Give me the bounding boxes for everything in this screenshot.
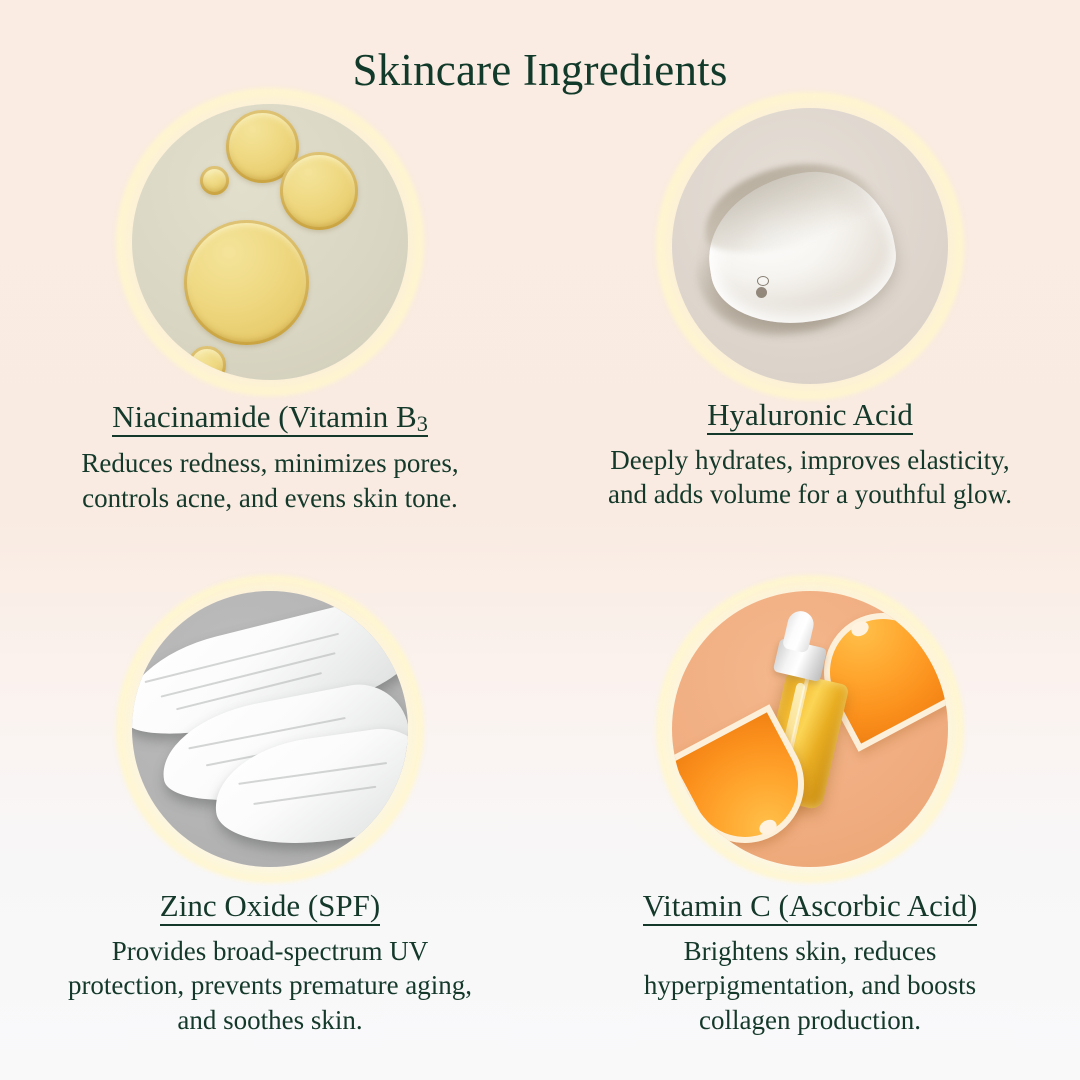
serum-dropper-bottle-with-orange-slices-photo xyxy=(672,591,948,867)
cream-streak xyxy=(238,762,387,785)
page-title: Skincare Ingredients xyxy=(0,0,1080,93)
ingredient-description-niacinamide: Reduces redness, minimizes pores, contro… xyxy=(55,446,485,515)
ingredient-image-zinc-oxide xyxy=(132,591,408,867)
ingredient-card-vitamin-c: Vitamin C (Ascorbic Acid) Brightens skin… xyxy=(540,515,1080,1037)
ingredient-description-vitamin-c: Brightens skin, reduces hyperpigmentatio… xyxy=(595,934,1025,1038)
orange-core xyxy=(757,817,779,838)
oil-droplet xyxy=(200,166,229,195)
ingredient-heading-zinc-oxide: Zinc Oxide (SPF) xyxy=(160,889,380,924)
ingredient-card-niacinamide: Niacinamide (Vitamin B3 Reduces redness,… xyxy=(0,104,540,515)
oil-droplet xyxy=(184,220,309,345)
gel-dot xyxy=(756,287,767,298)
gel-bubble xyxy=(757,276,769,286)
clear-gel-drop-photo xyxy=(672,108,948,384)
ingredient-description-zinc-oxide: Provides broad-spectrum UV protection, p… xyxy=(55,934,485,1038)
ingredient-heading-vitamin-c: Vitamin C (Ascorbic Acid) xyxy=(643,889,978,924)
ingredient-image-vitamin-c xyxy=(672,591,948,867)
ingredient-description-hyaluronic-acid: Deeply hydrates, improves elasticity, an… xyxy=(595,443,1025,512)
oil-droplet xyxy=(280,152,358,230)
orange-core xyxy=(849,618,871,639)
ingredient-card-hyaluronic-acid: Hyaluronic Acid Deeply hydrates, improve… xyxy=(540,104,1080,515)
ingredient-heading-hyaluronic-acid: Hyaluronic Acid xyxy=(707,398,913,433)
ingredient-image-niacinamide xyxy=(132,104,408,380)
white-cream-swatches-photo xyxy=(132,591,408,867)
ingredient-heading-niacinamide: Niacinamide (Vitamin B3 xyxy=(112,400,428,436)
cream-streak xyxy=(253,786,376,805)
ingredient-image-hyaluronic-acid xyxy=(672,108,948,384)
oil-droplet xyxy=(188,346,226,380)
oil-droplets-photo xyxy=(132,104,408,380)
ingredient-grid: Niacinamide (Vitamin B3 Reduces redness,… xyxy=(0,104,1080,1037)
ingredient-card-zinc-oxide: Zinc Oxide (SPF) Provides broad-spectrum… xyxy=(0,515,540,1037)
